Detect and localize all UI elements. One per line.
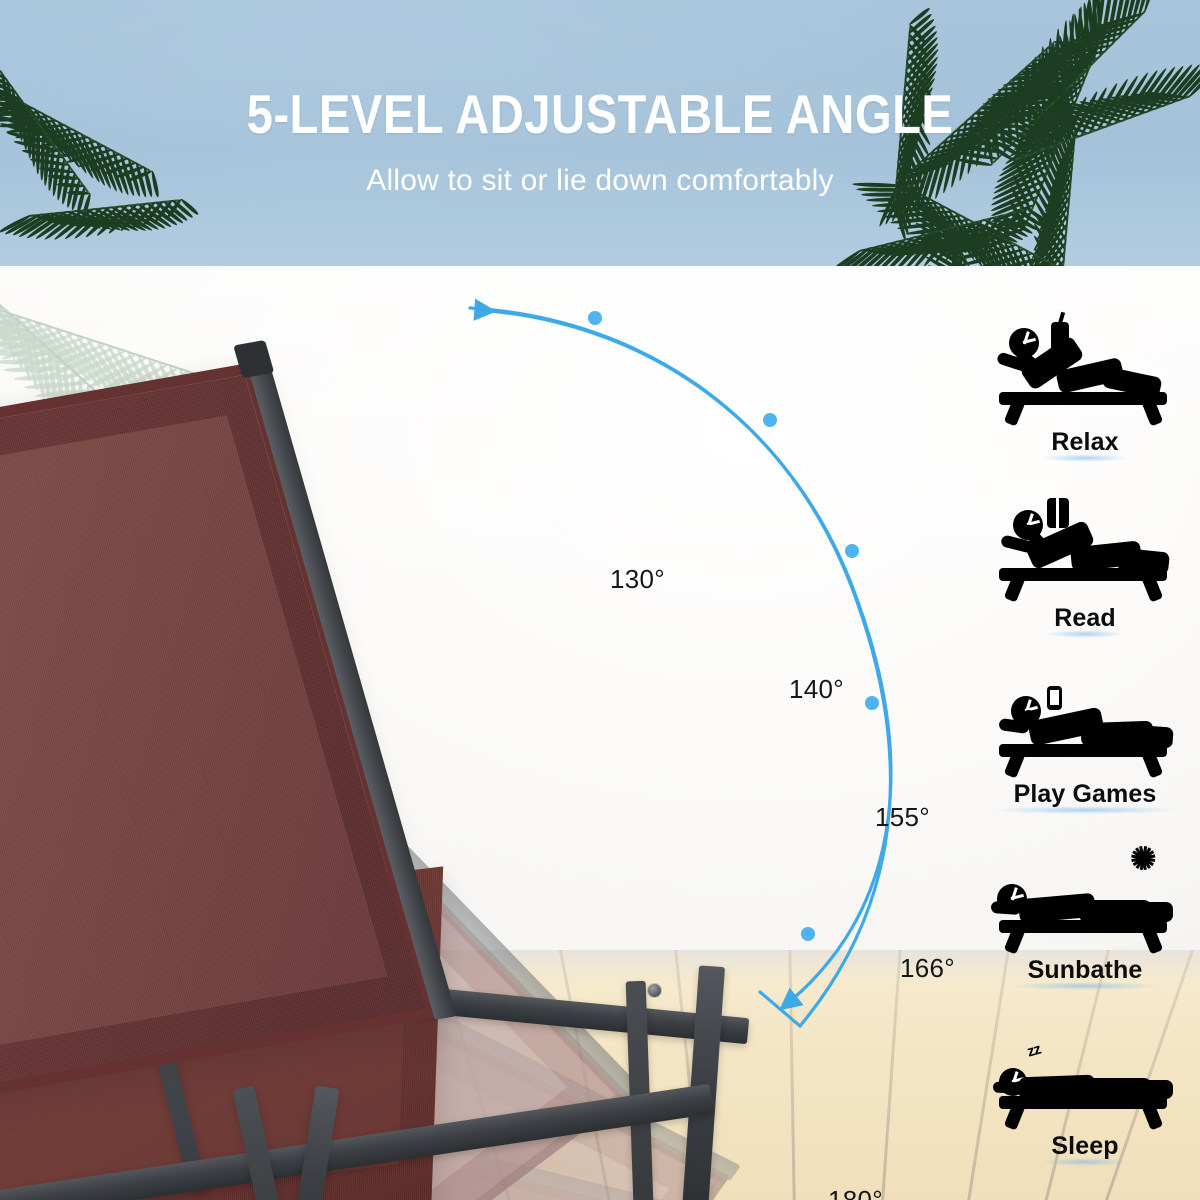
- frame-screw: [648, 984, 661, 997]
- backrest-main: [0, 362, 440, 1113]
- activity-label: Sunbathe: [1028, 956, 1143, 985]
- page-subtitle: Allow to sit or lie down comfortably: [0, 164, 1200, 198]
- activity-item-read: Read: [978, 492, 1192, 633]
- activity-item-play-games: Play Games: [978, 668, 1192, 809]
- person-lounging-with-drink-icon: [985, 316, 1185, 426]
- activity-item-relax: Relax: [978, 316, 1192, 457]
- angle-label-2: 155°: [875, 802, 930, 833]
- person-lounging-with-book-icon: [985, 492, 1185, 602]
- angle-label-4: 180°: [828, 1185, 883, 1200]
- pictogram-arm: [993, 1082, 1021, 1094]
- phone-screen-icon: [1050, 690, 1059, 705]
- header-banner: 5-LEVEL ADJUSTABLE ANGLE Allow to sit or…: [0, 0, 1200, 266]
- person-lounging-with-phone-icon: [985, 668, 1185, 778]
- activity-label: Read: [1054, 604, 1116, 633]
- person-sleeping-zzz-icon: zz: [985, 1020, 1185, 1130]
- page-title: 5-LEVEL ADJUSTABLE ANGLE: [84, 82, 1116, 146]
- sun-icon: [1131, 846, 1155, 870]
- angle-label-1: 140°: [789, 674, 844, 705]
- person-lying-with-sun-icon: [985, 844, 1185, 954]
- activity-item-sunbathe: Sunbathe: [978, 844, 1192, 985]
- pictogram-shin: [1126, 724, 1173, 748]
- activity-icon-column: RelaxReadPlay GamesSunbathezzSleep: [978, 316, 1192, 1196]
- pictogram-shin: [1129, 902, 1173, 922]
- product-infographic: 5-LEVEL ADJUSTABLE ANGLE Allow to sit or…: [0, 0, 1200, 1200]
- activity-label: Play Games: [1014, 780, 1157, 809]
- activity-label: Sleep: [1051, 1132, 1118, 1161]
- pictogram-arm: [991, 901, 1022, 915]
- activity-item-sleep: zzSleep: [978, 1020, 1192, 1161]
- angle-label-0: 130°: [610, 564, 665, 595]
- angle-label-3: 166°: [900, 953, 955, 984]
- book-spine-icon: [1056, 498, 1059, 528]
- activity-label: Relax: [1051, 428, 1118, 457]
- pictogram-shin: [1129, 1080, 1173, 1099]
- product-photo-stage: 130°140°155°166°180° RelaxReadPlay Games…: [0, 266, 1200, 1200]
